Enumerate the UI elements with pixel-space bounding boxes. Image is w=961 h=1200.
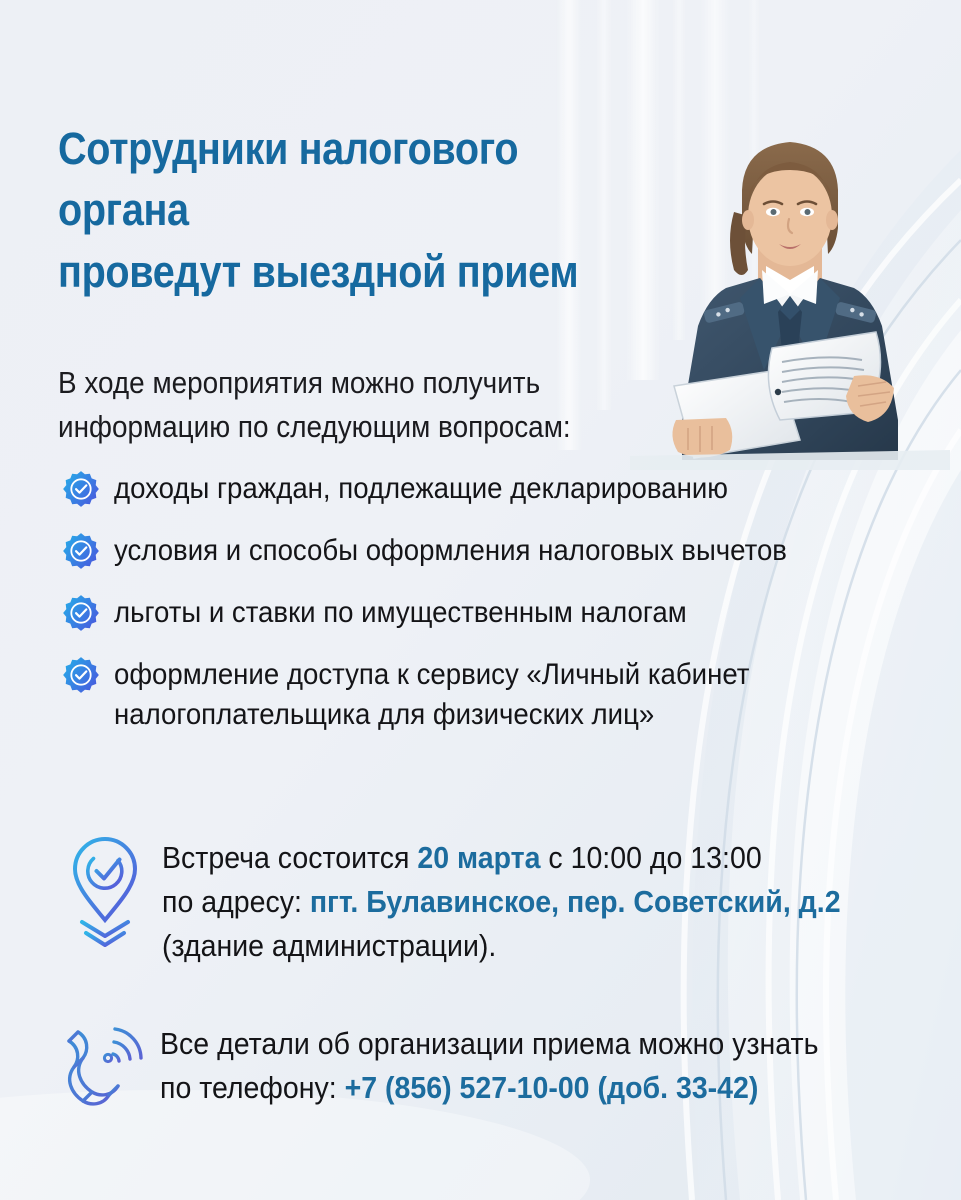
contact-phone-text: Все детали об организации приема можно у… [160,1018,818,1110]
list-item-label: условия и способы оформления налоговых в… [114,530,787,571]
meeting-prefix: Встреча состоится [162,840,417,875]
check-badge-icon [62,532,100,570]
topics-list: доходы граждан, подлежащие декларировани… [62,468,862,755]
list-item: доходы граждан, подлежащие декларировани… [62,468,862,509]
contact-phone-block: Все детали об организации приема можно у… [56,1018,916,1110]
event-place-block: Встреча состоится 20 марта с 10:00 до 13… [66,832,896,968]
list-item-label: доходы граждан, подлежащие декларировани… [114,468,728,509]
tax-inspector-photo: Сотрудница налогового органа в форменном… [630,120,950,470]
list-item: льготы и ставки по имущественным налогам [62,592,862,633]
event-venue-note: (здание администрации). [162,924,841,968]
check-badge-icon [62,470,100,508]
address-prefix: по адресу: [162,884,310,919]
event-place-text: Встреча состоится 20 марта с 10:00 до 13… [162,832,841,968]
map-pin-check-icon [66,832,144,950]
contact-number-line: по телефону: +7 (856) 527-10-00 (доб. 33… [160,1066,818,1110]
event-datetime-line: Встреча состоится 20 марта с 10:00 до 13… [162,836,841,880]
phone-prefix: по телефону: [160,1070,345,1105]
list-item: условия и способы оформления налоговых в… [62,530,862,571]
meeting-time: с 10:00 до 13:00 [540,840,761,875]
phone-number: +7 (856) 527-10-00 (доб. 33-42) [345,1070,759,1105]
contact-details-line: Все детали об организации приема можно у… [160,1022,818,1066]
list-item-label: льготы и ставки по имущественным налогам [114,592,687,633]
check-badge-icon [62,594,100,632]
list-item: оформление доступа к сервису «Личный каб… [62,654,862,735]
list-item-label: оформление доступа к сервису «Личный каб… [114,654,749,735]
page-title: Сотрудники налогового органа проведут вы… [58,118,639,302]
intro-paragraph: В ходе мероприятия можно получить информ… [58,361,616,449]
address-value: пгт. Булавинское, пер. Советский, д.2 [310,884,841,919]
check-badge-icon [62,656,100,694]
poster-canvas: Сотрудница налогового органа в форменном… [0,0,961,1200]
telephone-ring-icon [56,1022,148,1108]
meeting-date: 20 марта [417,840,540,875]
event-address-line: по адресу: пгт. Булавинское, пер. Советс… [162,880,841,924]
